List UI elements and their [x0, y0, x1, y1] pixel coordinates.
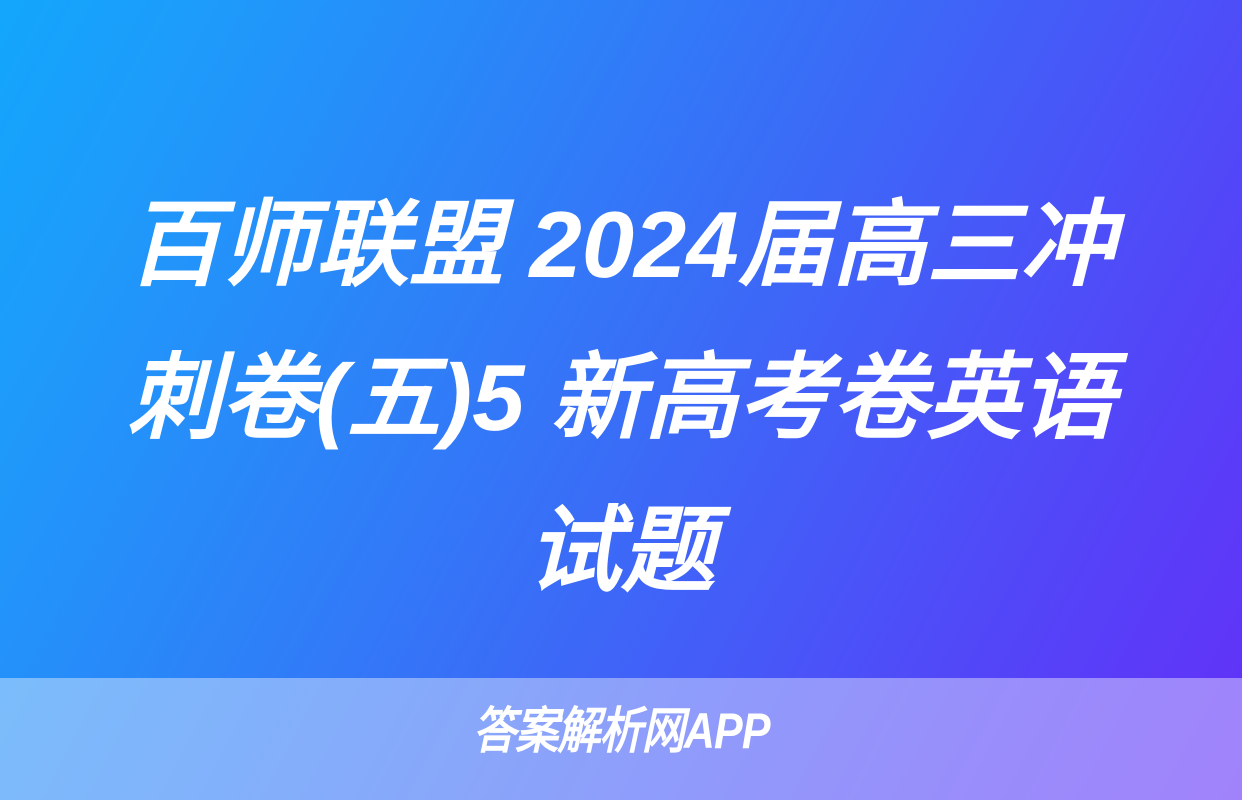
- page-title: 百师联盟 2024届高三冲 刺卷(五)5 新高考卷英语 试题: [0, 168, 1242, 627]
- watermark-text: 答案解析网APP: [473, 702, 770, 760]
- title-line-3: 试题: [36, 474, 1206, 627]
- poster-canvas: 百师联盟 2024届高三冲 刺卷(五)5 新高考卷英语 试题 答案解析网APP: [0, 0, 1242, 800]
- title-line-1: 百师联盟 2024届高三冲: [36, 168, 1206, 321]
- title-line-2: 刺卷(五)5 新高考卷英语: [36, 321, 1206, 474]
- watermark-container: 答案解析网APP: [0, 702, 1242, 760]
